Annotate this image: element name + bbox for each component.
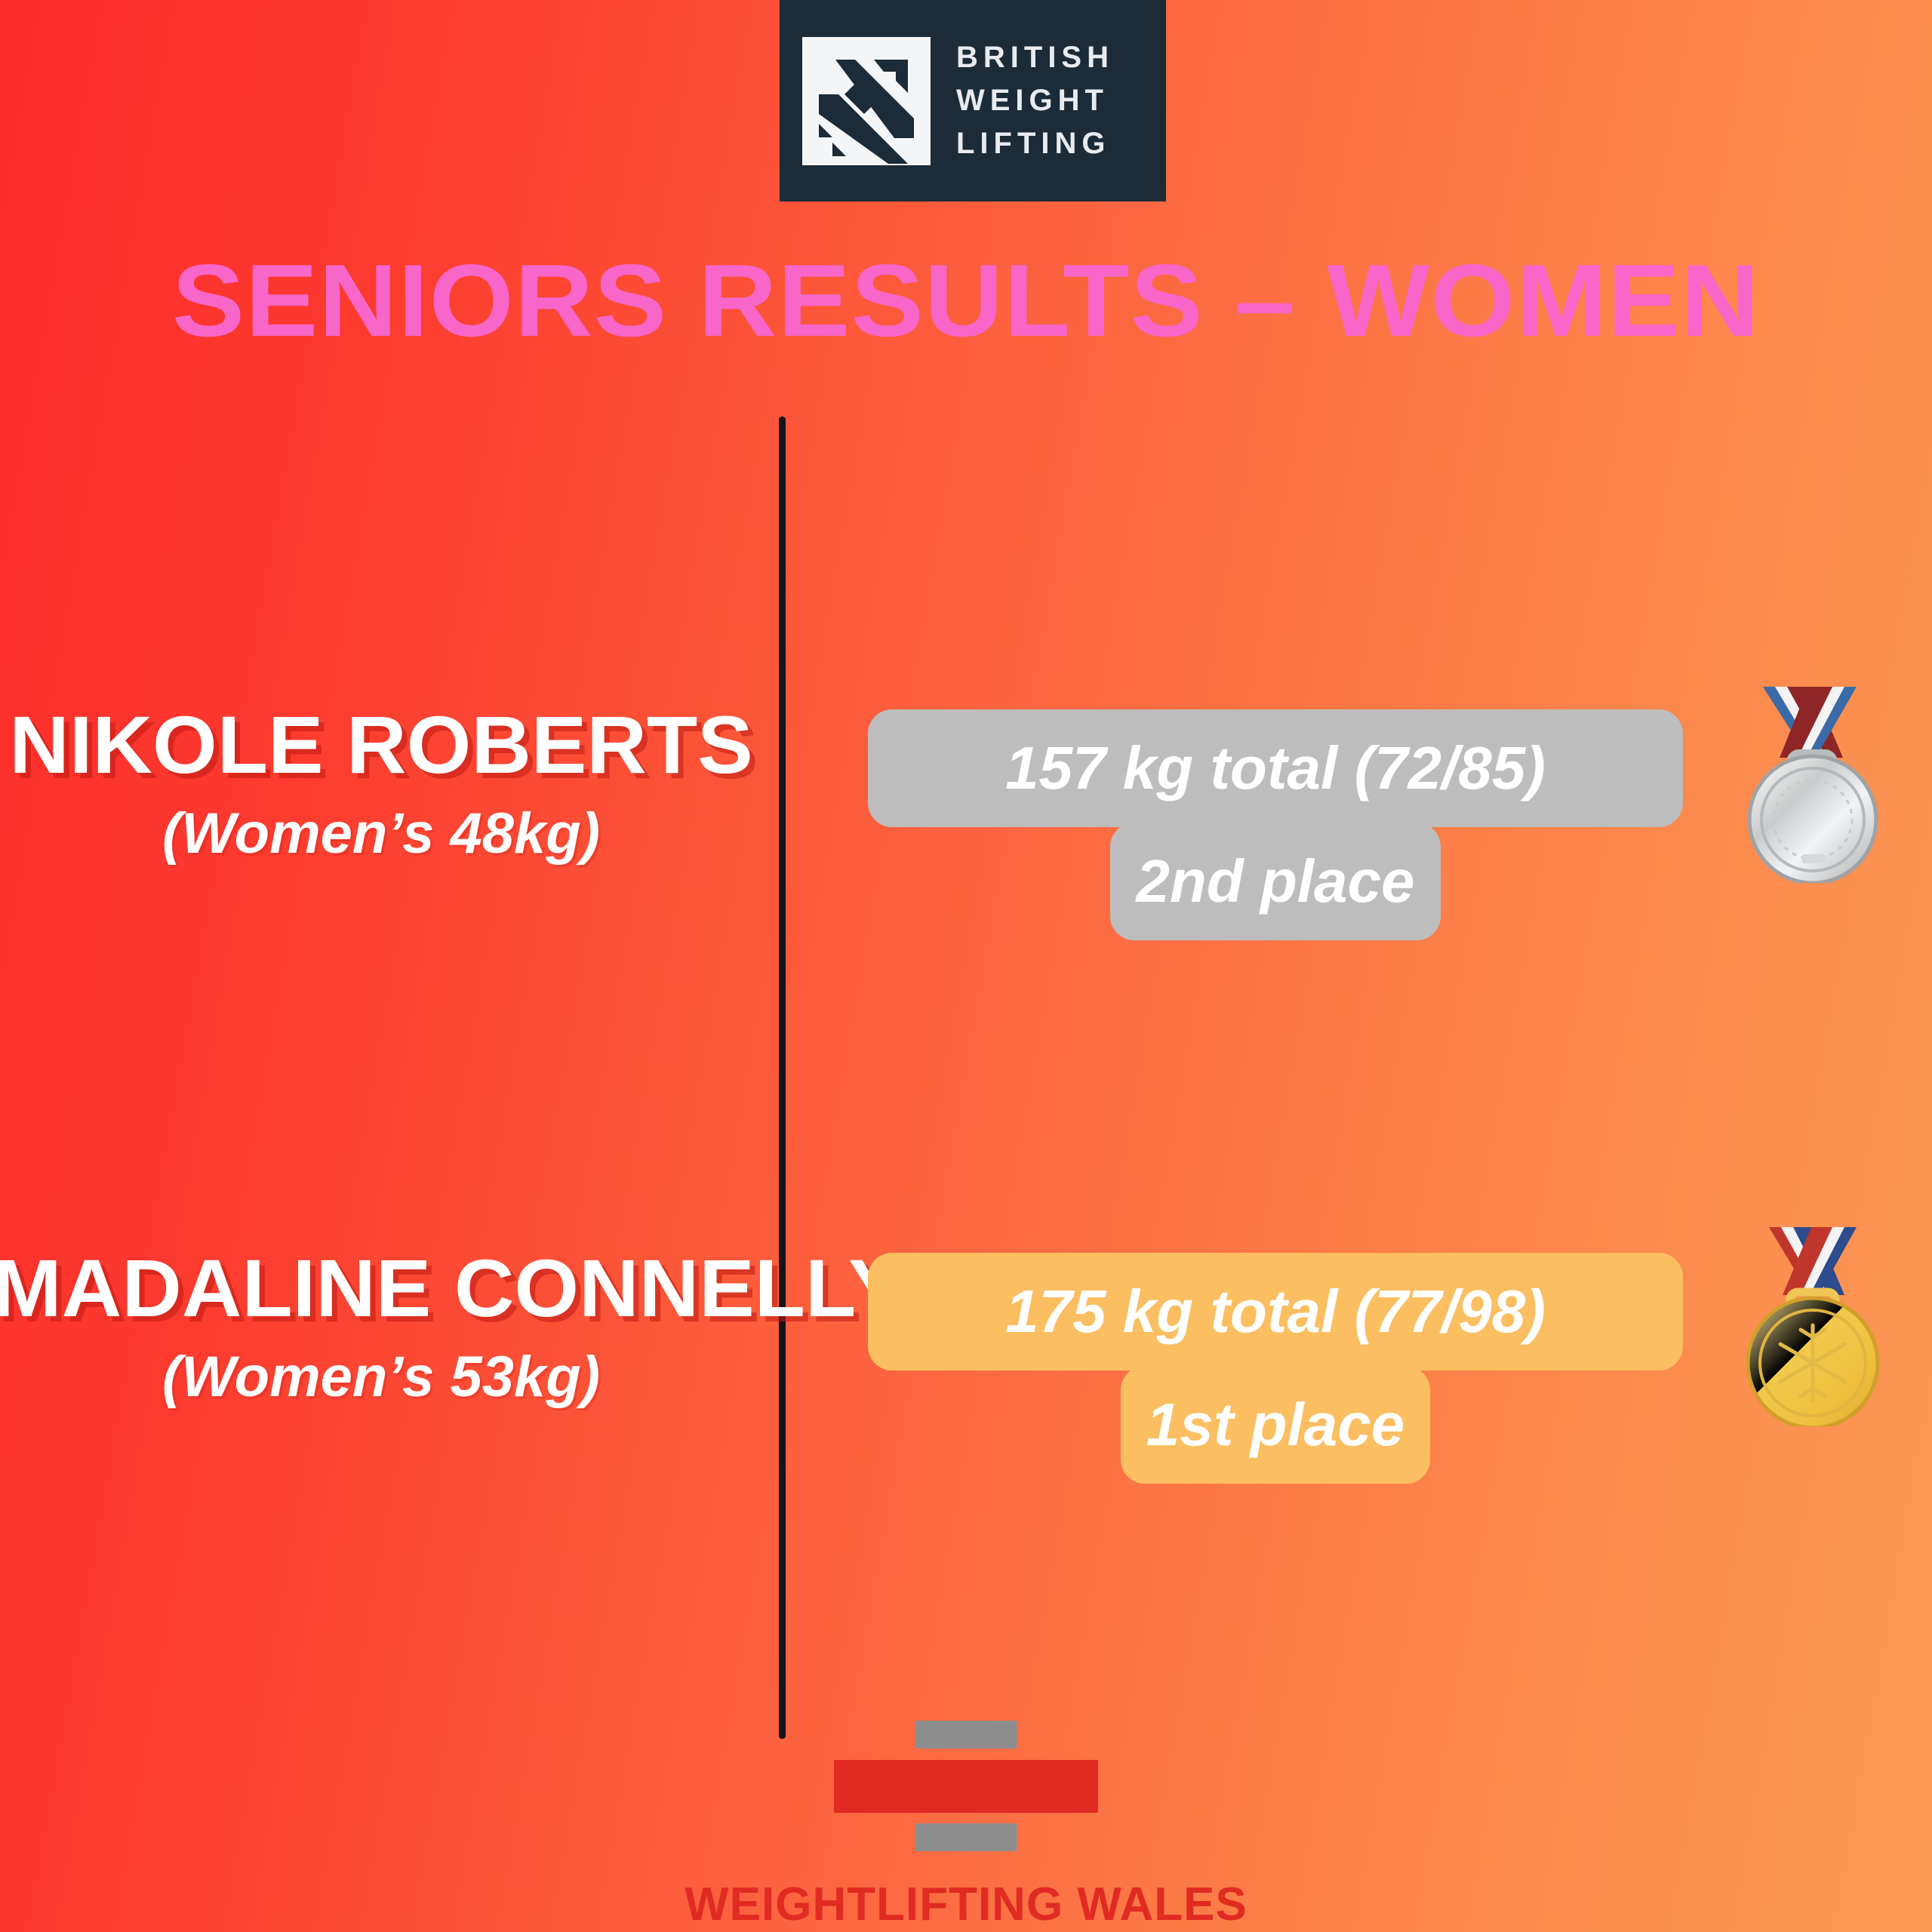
bwl-word-line-2: WEIGHT	[956, 79, 1114, 122]
result-total-line: 157 kg total (72/85)	[868, 709, 1683, 827]
athlete-block: NIKOLE ROBERTS (Women’s 48kg)	[0, 702, 762, 866]
result-badge: 175 kg total (77/98) 1st place	[868, 1253, 1683, 1484]
bwl-mark-icon	[802, 37, 931, 165]
athlete-category: (Women’s 48kg)	[0, 801, 762, 866]
weightlifting-wales-barbell-plates-icon	[830, 1721, 1102, 1872]
athlete-block: MADALINE CONNELLY (Women’s 53kg)	[0, 1245, 762, 1410]
result-badge: 157 kg total (72/85) 2nd place	[868, 709, 1683, 940]
weightlifting-wales-footer: WEIGHTLIFTING WALES CODI PWYSAU CYMRU	[0, 1721, 1932, 1932]
result-row: NIKOLE ROBERTS (Women’s 48kg) 157 kg tot…	[0, 702, 1932, 1019]
bwl-word-line-3: LIFTING	[956, 122, 1114, 165]
bwl-wordmark: BRITISH WEIGHT LIFTING	[956, 36, 1114, 165]
result-place-line: 1st place	[1121, 1366, 1430, 1484]
plate-bottom	[915, 1823, 1017, 1851]
result-place-line: 2nd place	[1110, 823, 1440, 940]
bwl-word-line-1: BRITISH	[956, 36, 1114, 79]
page-title: SENIORS RESULTS – WOMEN	[0, 241, 1932, 359]
result-row: MADALINE CONNELLY (Women’s 53kg) 175 kg …	[0, 1245, 1932, 1562]
athlete-name: NIKOLE ROBERTS	[0, 702, 770, 787]
athlete-category: (Women’s 53kg)	[0, 1344, 762, 1410]
athlete-name: MADALINE CONNELLY	[0, 1245, 770, 1331]
british-weight-lifting-logo: BRITISH WEIGHT LIFTING	[780, 0, 1166, 202]
gold-medal-icon	[1743, 1223, 1917, 1426]
result-total-line: 175 kg total (77/98)	[868, 1253, 1683, 1371]
poster-canvas: BRITISH WEIGHT LIFTING SENIORS RESULTS –…	[0, 0, 1932, 1932]
footer-organisation-name: WEIGHTLIFTING WALES	[0, 1878, 1932, 1931]
plate-top	[915, 1721, 1017, 1749]
silver-medal-icon	[1743, 679, 1917, 883]
plate-middle	[834, 1760, 1098, 1813]
